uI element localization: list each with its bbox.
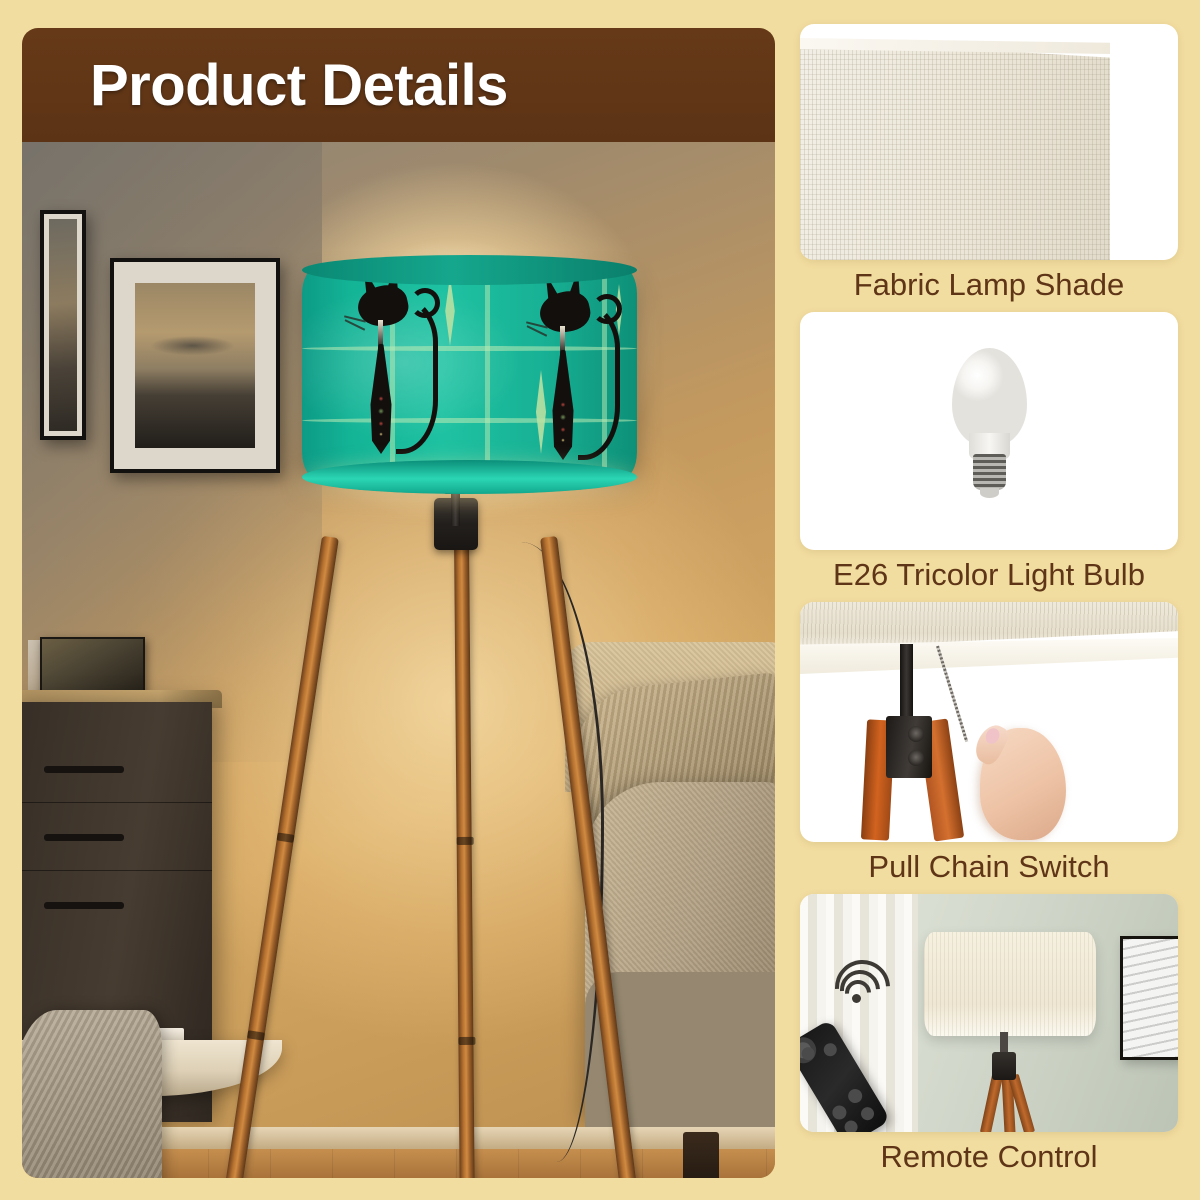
- remote-button: [830, 1103, 849, 1122]
- remote-button: [821, 1041, 839, 1059]
- lamp-center-rod: [900, 644, 913, 724]
- remote-control-scene-image: [800, 894, 1178, 1132]
- throw-blanket: [22, 1010, 162, 1178]
- cat-ornament: [372, 391, 390, 439]
- drawer-divider: [22, 802, 212, 803]
- header-banner: Product Details: [22, 28, 775, 142]
- frame-artwork: [1123, 939, 1178, 1057]
- frame-artwork: [135, 283, 255, 448]
- detail-label-pull-chain-switch: Pull Chain Switch: [800, 842, 1178, 890]
- detail-item-pull-chain-switch: Pull Chain Switch: [800, 602, 1178, 890]
- drawer-handle: [44, 834, 124, 841]
- led-bulb: [952, 348, 1027, 473]
- detail-item-remote-control: Remote Control: [800, 894, 1178, 1180]
- lamp-stem: [451, 492, 460, 526]
- drawer-handle: [44, 902, 124, 909]
- teal-cat-lamp-shade: [302, 268, 637, 478]
- remote-button: [842, 1118, 860, 1132]
- main-lifestyle-photo: [22, 142, 775, 1178]
- screw-icon: [908, 726, 924, 742]
- wall-frame-small: [40, 210, 86, 440]
- tripod-joint-block: [992, 1052, 1016, 1080]
- leg-band: [247, 1030, 265, 1040]
- detail-label-fabric-lamp-shade: Fabric Lamp Shade: [800, 260, 1178, 308]
- cat-tail: [578, 300, 620, 460]
- fabric-texture: [800, 30, 1110, 260]
- leg-band: [458, 1037, 475, 1045]
- bulb-e26-screw-base: [973, 454, 1006, 490]
- remote-button: [846, 1086, 865, 1105]
- shade-bottom-rim: [302, 460, 637, 494]
- cat-tail: [396, 294, 438, 454]
- lamp-shade: [924, 932, 1096, 1036]
- pull-chain-hand-image: [800, 602, 1178, 842]
- remote-button: [859, 1105, 877, 1123]
- product-details-main-panel: Product Details: [22, 28, 775, 1178]
- bulb-glass-dome: [952, 348, 1027, 446]
- frame-mat: [114, 262, 276, 469]
- wall-picture-frame: [1120, 936, 1178, 1060]
- frame-mat: [44, 214, 82, 436]
- drawer-handle: [44, 766, 124, 773]
- feature-detail-list: Fabric Lamp Shade E26 Tricolor Light Bul…: [800, 24, 1178, 1184]
- switch-housing: [886, 716, 932, 778]
- cat-tail-curl: [592, 294, 622, 324]
- light-bulb-image: [800, 312, 1178, 550]
- frame-artwork: [49, 219, 77, 431]
- wall-frame-large: [110, 258, 280, 473]
- fabric-shade-closeup-image: [800, 24, 1178, 260]
- cat-ornament: [554, 397, 572, 445]
- shade-top-ring: [302, 255, 637, 285]
- leg-band: [277, 832, 295, 842]
- drawer-divider: [22, 870, 212, 871]
- bulb-contact-tip: [980, 488, 999, 498]
- detail-item-fabric-lamp-shade: Fabric Lamp Shade: [800, 24, 1178, 308]
- cat-tail-curl: [410, 288, 440, 318]
- sofa-foot: [683, 1132, 719, 1178]
- detail-label-remote-control: Remote Control: [800, 1132, 1178, 1180]
- page-title: Product Details: [90, 52, 508, 119]
- detail-item-light-bulb: E26 Tricolor Light Bulb: [800, 312, 1178, 598]
- shade-body: [302, 268, 637, 478]
- leg-band: [457, 837, 474, 845]
- shade-grid-line: [485, 268, 490, 478]
- screw-icon: [908, 750, 924, 766]
- detail-label-light-bulb: E26 Tricolor Light Bulb: [800, 550, 1178, 598]
